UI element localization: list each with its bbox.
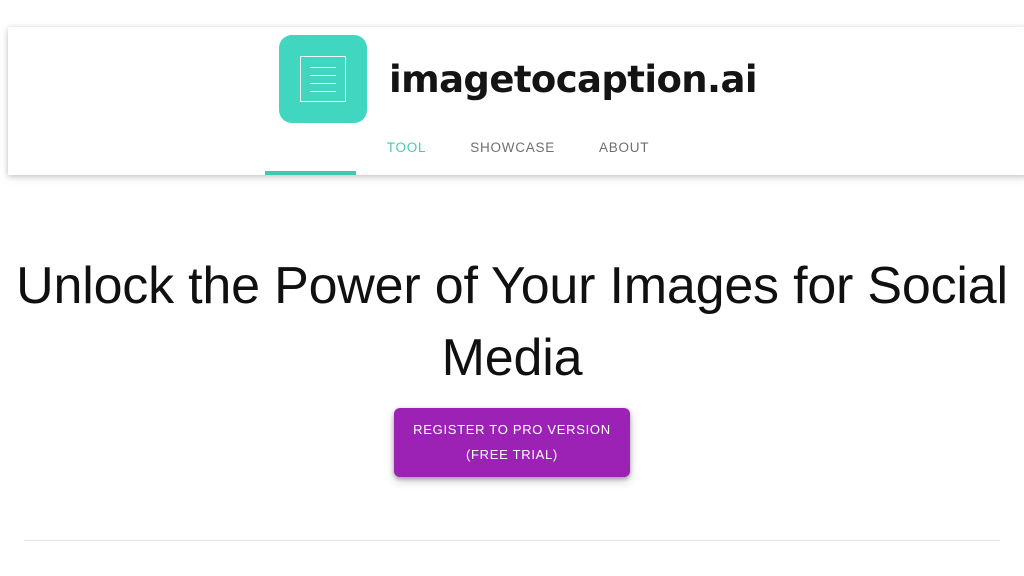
document-line — [310, 91, 336, 92]
document-line — [310, 83, 336, 84]
page-root: imagetocaption.ai TOOL SHOWCASE ABOUT Un… — [0, 0, 1024, 576]
document-line — [310, 75, 336, 76]
brand-row: imagetocaption.ai — [8, 27, 1024, 131]
site-header: imagetocaption.ai TOOL SHOWCASE ABOUT — [8, 27, 1024, 175]
document-line — [310, 67, 336, 68]
cta-container: REGISTER TO PRO VERSION (FREE TRIAL) — [0, 408, 1024, 477]
register-pro-button-line2: (FREE TRIAL) — [466, 443, 558, 467]
nav-active-indicator — [265, 171, 356, 175]
register-pro-button-line1: REGISTER TO PRO VERSION — [413, 418, 611, 442]
document-lines-icon — [300, 56, 346, 102]
nav-item-tool[interactable]: TOOL — [365, 140, 449, 155]
hero-section: Unlock the Power of Your Images for Soci… — [0, 175, 1024, 576]
section-divider — [24, 540, 1000, 541]
nav-item-showcase[interactable]: SHOWCASE — [448, 140, 577, 155]
nav-item-about[interactable]: ABOUT — [577, 140, 671, 155]
register-pro-button[interactable]: REGISTER TO PRO VERSION (FREE TRIAL) — [394, 408, 630, 477]
brand-name[interactable]: imagetocaption.ai — [389, 61, 757, 98]
main-nav: TOOL SHOWCASE ABOUT — [8, 131, 1024, 175]
page-title: Unlock the Power of Your Images for Soci… — [0, 251, 1024, 395]
logo-mark[interactable] — [279, 35, 367, 123]
